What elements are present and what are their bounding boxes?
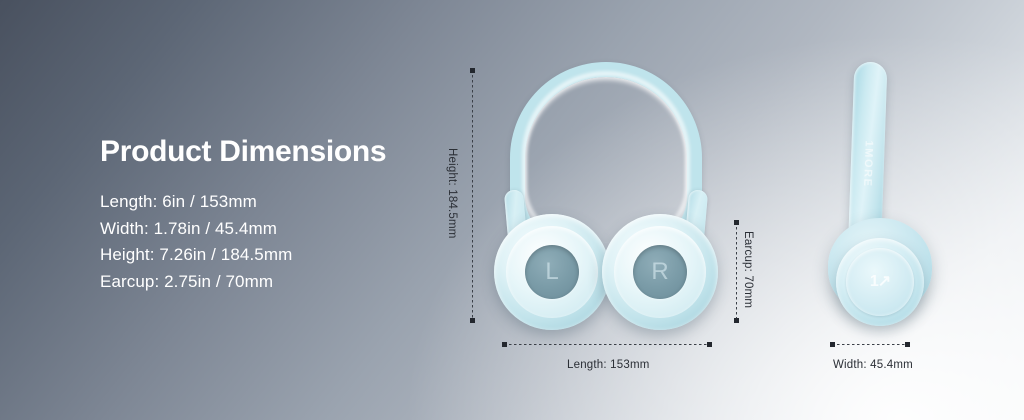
earcup-dimension-cap-bottom [734, 318, 739, 323]
width-dimension-cap-right [905, 342, 910, 347]
earcup-side-front: 1↗ [836, 238, 924, 326]
spec-item-length: Length: 6in / 153mm [100, 189, 430, 216]
width-dimension-line [832, 344, 907, 345]
width-dimension-label: Width: 45.4mm [833, 359, 913, 371]
driver-plate-left: L [525, 245, 579, 299]
length-dimension-line [504, 344, 709, 345]
brand-mark-icon: 1↗ [870, 274, 890, 290]
spec-list: Length: 6in / 153mm Width: 1.78in / 45.4… [100, 189, 430, 296]
length-dimension-cap-right [707, 342, 712, 347]
height-dimension-cap-top [470, 68, 475, 73]
earcup-left: L [494, 214, 610, 330]
height-dimension-cap-bottom [470, 318, 475, 323]
height-dimension-label: Height: 184.5mm [446, 148, 458, 239]
right-channel-mark: R [651, 260, 668, 284]
earcup-dimension-label: Earcup: 70mm [742, 231, 754, 308]
length-dimension-cap-left [502, 342, 507, 347]
earcup-right: R [602, 214, 718, 330]
headphones-side-view: 1MORE 1↗ [818, 62, 938, 330]
spec-item-width: Width: 1.78in / 45.4mm [100, 216, 430, 243]
brand-logo: 1MORE [861, 140, 875, 188]
spec-item-height: Height: 7.26in / 184.5mm [100, 242, 430, 269]
earcup-dimension-line [736, 222, 737, 320]
left-channel-mark: L [545, 260, 558, 284]
length-dimension-label: Length: 153mm [567, 359, 650, 371]
page-title: Product Dimensions [100, 135, 430, 168]
earcup-dimension-cap-top [734, 220, 739, 225]
earcup-side-inner: 1↗ [846, 248, 914, 316]
driver-plate-right: R [633, 245, 687, 299]
height-dimension-line [472, 70, 473, 320]
width-dimension-cap-left [830, 342, 835, 347]
product-dimensions-text-block: Product Dimensions Length: 6in / 153mm W… [100, 135, 430, 296]
spec-item-earcup: Earcup: 2.75in / 70mm [100, 269, 430, 296]
headphones-front-view: L R [496, 62, 716, 330]
